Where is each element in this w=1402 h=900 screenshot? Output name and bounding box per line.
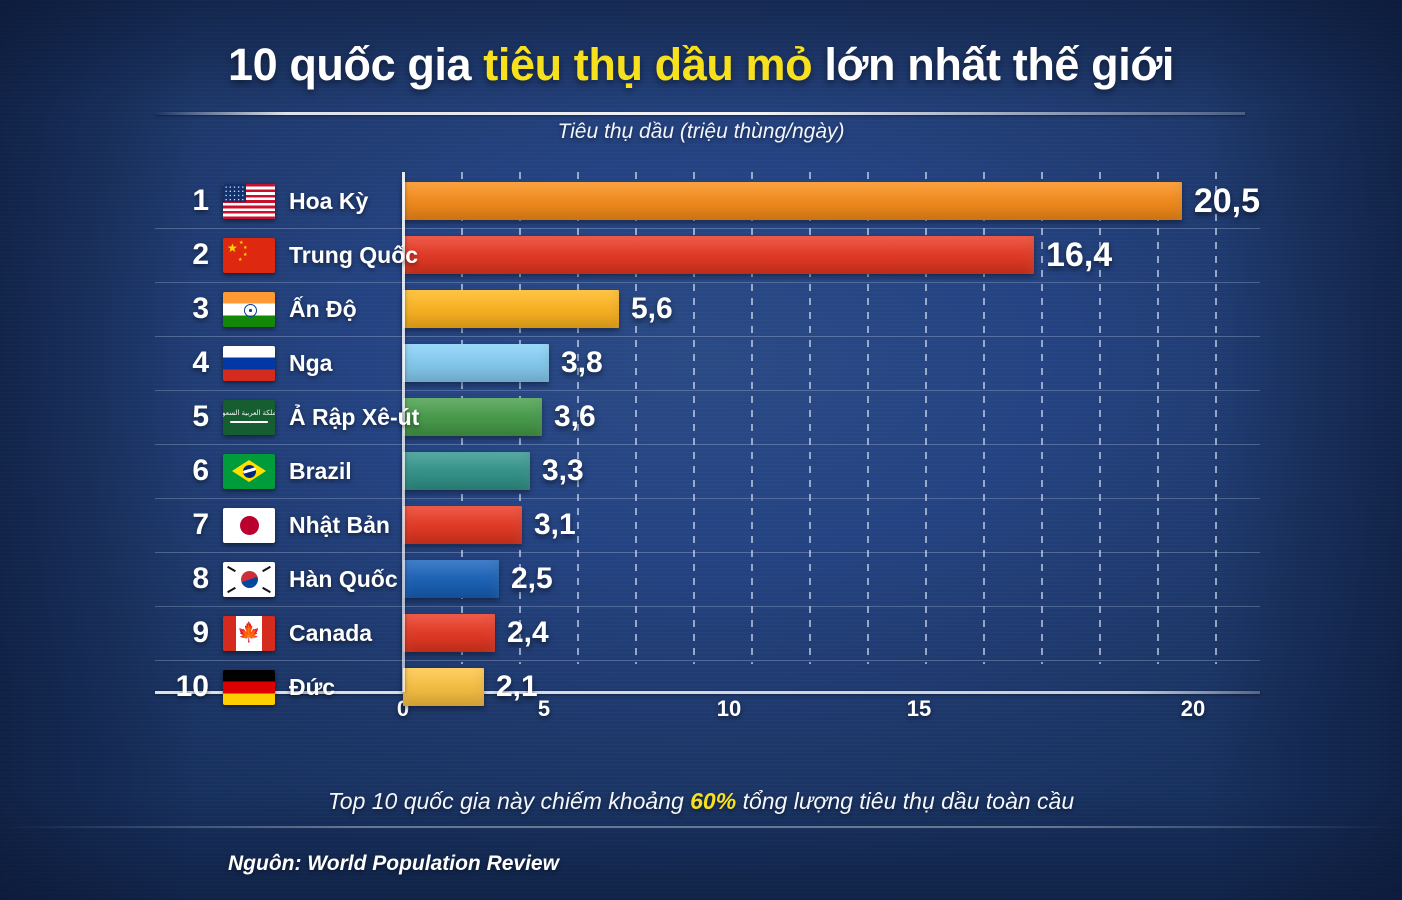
title-highlight: tiêu thụ dầu mỏ bbox=[483, 39, 812, 90]
country-label: Brazil bbox=[289, 458, 352, 485]
x-tick-label: 0 bbox=[397, 696, 409, 722]
chart-row[interactable]: 3Ấn Độ5,6 bbox=[155, 286, 1260, 332]
rank-number: 4 bbox=[155, 346, 209, 380]
flag-united-states-icon bbox=[223, 184, 275, 219]
grid-line-horizontal bbox=[155, 552, 1260, 553]
grid-line-horizontal bbox=[155, 444, 1260, 445]
rank-number: 5 bbox=[155, 400, 209, 434]
rank-number: 3 bbox=[155, 292, 209, 326]
grid-line-vertical bbox=[809, 172, 811, 664]
bar-chart: 1Hoa Kỳ20,52★★★★★Trung Quốc16,43Ấn Độ5,6… bbox=[155, 172, 1260, 720]
bar[interactable] bbox=[403, 560, 499, 598]
bar[interactable] bbox=[403, 614, 495, 652]
x-tick-label: 5 bbox=[538, 696, 550, 722]
chart-row[interactable]: 1Hoa Kỳ20,5 bbox=[155, 178, 1260, 224]
title-part-2: lớn nhất thế giới bbox=[812, 39, 1174, 90]
grid-line-vertical bbox=[1099, 172, 1101, 664]
bar[interactable] bbox=[403, 344, 549, 382]
country-label: Đức bbox=[289, 674, 335, 701]
rank-number: 2 bbox=[155, 238, 209, 272]
grid-line-vertical bbox=[519, 172, 521, 664]
bar-value-label: 20,5 bbox=[1194, 182, 1260, 221]
grid-line-vertical bbox=[1157, 172, 1159, 664]
grid-line-vertical bbox=[983, 172, 985, 664]
title-part-1: 10 quốc gia bbox=[228, 39, 483, 90]
country-label: Trung Quốc bbox=[289, 242, 418, 269]
flag-brazil-icon bbox=[223, 454, 275, 489]
chart-row[interactable]: 2★★★★★Trung Quốc16,4 bbox=[155, 232, 1260, 278]
rank-number: 7 bbox=[155, 508, 209, 542]
bar-value-label: 5,6 bbox=[631, 292, 673, 326]
bar-container: 3,1 bbox=[403, 502, 1260, 548]
country-label: Nhật Bản bbox=[289, 512, 390, 539]
rank-number: 9 bbox=[155, 616, 209, 650]
rank-number: 6 bbox=[155, 454, 209, 488]
flag-south-korea-icon bbox=[223, 562, 275, 597]
bar-container: 3,8 bbox=[403, 340, 1260, 386]
bar-container: 3,3 bbox=[403, 448, 1260, 494]
rank-number: 10 bbox=[155, 670, 209, 704]
chart-row[interactable]: 5المملكة العربية السعوديةẢ Rập Xê-út3,6 bbox=[155, 394, 1260, 440]
flag-germany-icon bbox=[223, 670, 275, 705]
chart-row[interactable]: 7Nhật Bản3,1 bbox=[155, 502, 1260, 548]
footer-divider bbox=[0, 826, 1402, 828]
grid-line-vertical bbox=[461, 172, 463, 664]
bar-value-label: 3,1 bbox=[534, 508, 576, 542]
grid-line-horizontal bbox=[155, 390, 1260, 391]
footnote: Top 10 quốc gia này chiếm khoảng 60% tổn… bbox=[0, 788, 1402, 815]
grid-line-horizontal bbox=[155, 228, 1260, 229]
bar-value-label: 2,4 bbox=[507, 616, 549, 650]
grid-line-horizontal bbox=[155, 660, 1260, 661]
grid-line-vertical bbox=[925, 172, 927, 664]
flag-canada-icon: 🍁 bbox=[223, 616, 275, 651]
country-label: Hoa Kỳ bbox=[289, 188, 368, 215]
grid-line-vertical bbox=[867, 172, 869, 664]
bar-container: 2,4 bbox=[403, 610, 1260, 656]
country-label: Ấn Độ bbox=[289, 296, 357, 323]
country-label: Ả Rập Xê-út bbox=[289, 404, 419, 431]
x-tick-label: 20 bbox=[1181, 696, 1205, 722]
flag-russia-icon bbox=[223, 346, 275, 381]
page-title: 10 quốc gia tiêu thụ dầu mỏ lớn nhất thế… bbox=[0, 40, 1402, 90]
bar-container: 5,6 bbox=[403, 286, 1260, 332]
chart-row[interactable]: 6Brazil3,3 bbox=[155, 448, 1260, 494]
bar-container: 2,5 bbox=[403, 556, 1260, 602]
x-axis-tick-labels: 05101520 bbox=[403, 694, 1260, 720]
bar-value-label: 3,6 bbox=[554, 400, 596, 434]
chart-subtitle: Tiêu thụ dầu (triệu thùng/ngày) bbox=[0, 120, 1402, 144]
flag-china-icon: ★★★★★ bbox=[223, 238, 275, 273]
grid-line-horizontal bbox=[155, 498, 1260, 499]
source-credit: Nguôn: World Population Review bbox=[228, 852, 559, 876]
country-label: Hàn Quốc bbox=[289, 566, 398, 593]
chart-row[interactable]: 4Nga3,8 bbox=[155, 340, 1260, 386]
bar-container: 3,6 bbox=[403, 394, 1260, 440]
rank-number: 8 bbox=[155, 562, 209, 596]
footnote-part-2: tổng lượng tiêu thụ dầu toàn cầu bbox=[736, 788, 1074, 814]
country-label: Nga bbox=[289, 350, 332, 377]
bar[interactable] bbox=[403, 398, 542, 436]
grid-line-vertical bbox=[751, 172, 753, 664]
bar-container: 20,5 bbox=[403, 178, 1260, 224]
x-tick-label: 10 bbox=[717, 696, 741, 722]
grid-line-vertical bbox=[1041, 172, 1043, 664]
chart-row[interactable]: 9🍁Canada2,4 bbox=[155, 610, 1260, 656]
grid-line-horizontal bbox=[155, 282, 1260, 283]
bar-value-label: 2,5 bbox=[511, 562, 553, 596]
grid-line-vertical bbox=[1215, 172, 1217, 664]
footnote-part-1: Top 10 quốc gia này chiếm khoảng bbox=[328, 788, 690, 814]
country-label: Canada bbox=[289, 620, 372, 647]
flag-saudi-arabia-icon: المملكة العربية السعودية bbox=[223, 400, 275, 435]
grid-line-vertical bbox=[577, 172, 579, 664]
grid-line-horizontal bbox=[155, 606, 1260, 607]
flag-india-icon bbox=[223, 292, 275, 327]
bar[interactable] bbox=[403, 290, 619, 328]
title-divider bbox=[155, 112, 1245, 115]
footnote-highlight: 60% bbox=[690, 788, 736, 814]
rank-number: 1 bbox=[155, 184, 209, 218]
chart-row[interactable]: 8Hàn Quốc2,5 bbox=[155, 556, 1260, 602]
x-tick-label: 15 bbox=[907, 696, 931, 722]
grid-line-vertical bbox=[635, 172, 637, 664]
bar-value-label: 3,8 bbox=[561, 346, 603, 380]
infographic-root: 10 quốc gia tiêu thụ dầu mỏ lớn nhất thế… bbox=[0, 0, 1402, 900]
flag-japan-icon bbox=[223, 508, 275, 543]
grid-line-horizontal bbox=[155, 336, 1260, 337]
bar[interactable] bbox=[403, 236, 1034, 274]
bar[interactable] bbox=[403, 452, 530, 490]
grid-line-vertical bbox=[693, 172, 695, 664]
bar-container: 16,4 bbox=[403, 232, 1260, 278]
bar-value-label: 16,4 bbox=[1046, 236, 1112, 275]
